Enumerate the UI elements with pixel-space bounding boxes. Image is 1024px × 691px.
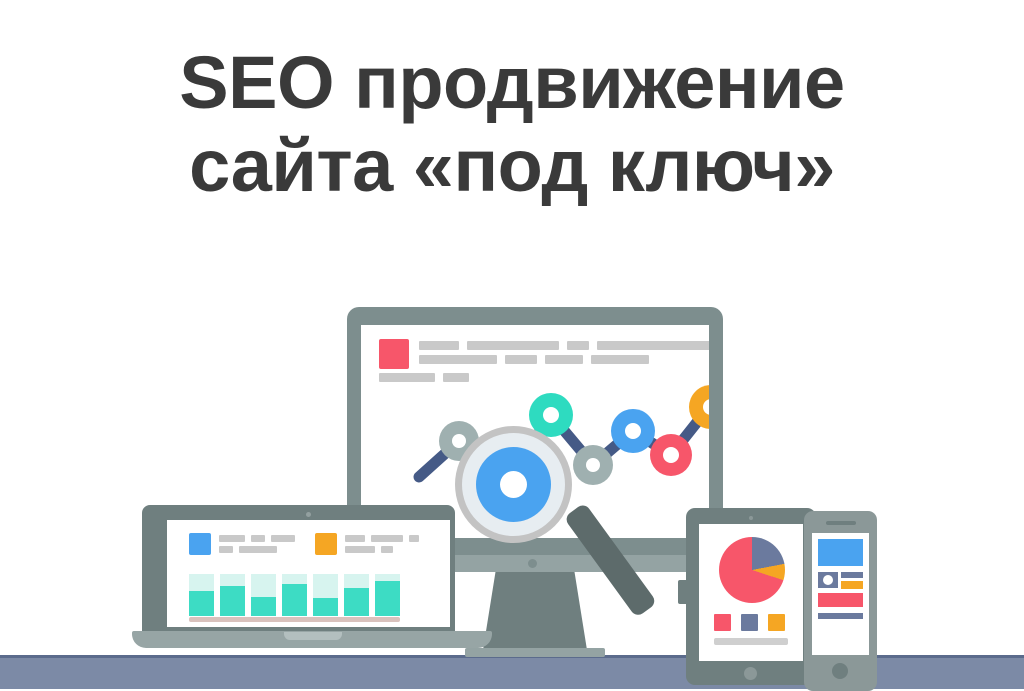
bar-value [220,586,245,616]
placeholder-bar [381,546,393,553]
tablet-frame [686,508,816,685]
laptop-device [132,505,492,660]
placeholder-bar [345,546,375,553]
phone-avatar-circle [823,575,833,585]
bar-value [251,597,276,616]
bar-column [189,574,214,616]
placeholder-bar [371,535,403,542]
laptop-legend-swatch-orange [315,533,337,555]
page-title: SEO продвижение сайта «под ключ» [0,42,1024,208]
laptop-trackpad-notch [284,632,342,640]
legend-swatch [714,614,731,631]
tablet-home-button[interactable] [744,667,757,680]
phone-text-line [841,572,863,578]
bar-value [313,598,338,616]
magnifier-handle [563,502,657,618]
devices-illustration [0,280,1024,689]
placeholder-bar [239,546,277,553]
bar-value [344,588,369,616]
placeholder-bar [409,535,419,542]
phone-footer-bar [818,613,863,619]
laptop-screen [167,520,450,627]
phone-speaker-icon [826,521,856,525]
tablet-pie-chart [719,537,785,603]
bar-track [251,574,276,597]
placeholder-bar [219,535,245,542]
tablet-chart-legend [714,614,785,631]
data-point-7-hole [663,447,679,463]
bar-column [220,574,245,616]
bar-column [344,574,369,616]
bar-value [282,584,307,616]
tablet-device [686,508,816,691]
tablet-footer-bar [714,638,788,645]
smartphone-device [804,511,877,691]
phone-cta-button[interactable] [841,581,863,589]
bar-track [313,574,338,598]
bar-track [189,574,214,591]
legend-swatch [768,614,785,631]
magnified-data-point-hole [500,471,527,498]
page-title-line-2: сайта «под ключ» [0,125,1024,208]
bar-chart-baseline [189,617,400,622]
bar-value [189,591,214,616]
bar-track [375,574,400,581]
bar-track [220,574,245,586]
tablet-camera-icon [749,516,753,520]
laptop-camera-icon [306,512,311,517]
phone-home-button[interactable] [832,663,848,679]
placeholder-bar [251,535,265,542]
page-title-line-1: SEO продвижение [0,42,1024,125]
bar-value [375,581,400,616]
seo-banner: SEO продвижение сайта «под ключ» [0,0,1024,689]
phone-hero-banner [818,539,863,566]
placeholder-bar [219,546,233,553]
data-point-4-hole [543,407,559,423]
bar-column [282,574,307,616]
bar-column [251,574,276,616]
laptop-lid [142,505,455,633]
bar-column [313,574,338,616]
placeholder-bar [345,535,365,542]
laptop-bar-chart [189,572,429,624]
laptop-legend-swatch-blue [189,533,211,555]
placeholder-bar [271,535,295,542]
phone-screen [812,533,869,655]
legend-swatch [741,614,758,631]
bar-track [282,574,307,584]
phone-frame [804,511,877,691]
bar-column [375,574,400,616]
tablet-screen [699,524,803,661]
bar-track [344,574,369,588]
phone-alert-band [818,593,863,607]
